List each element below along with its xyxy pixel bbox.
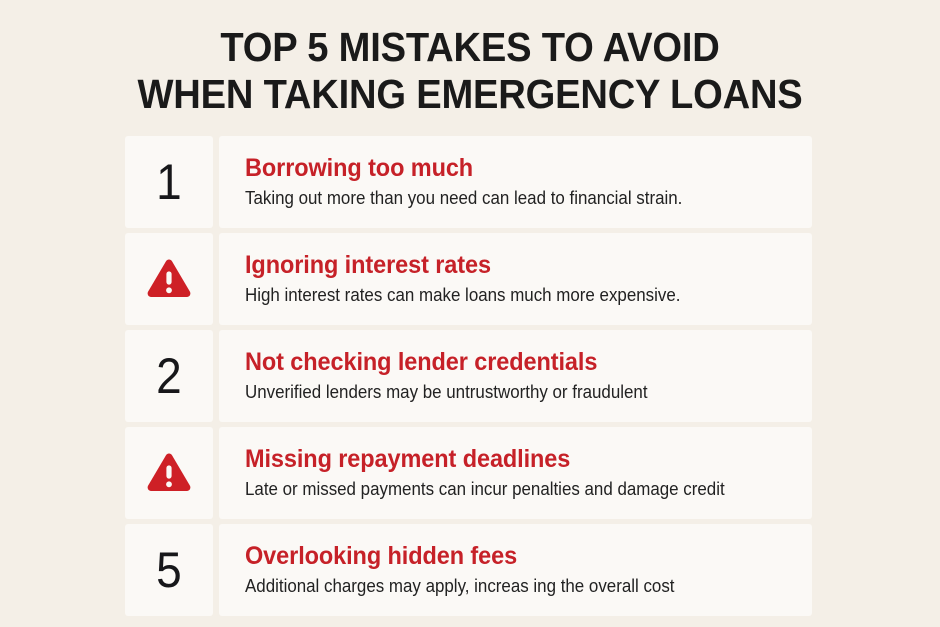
item-number: 1	[156, 157, 182, 207]
content-card: Overlooking hidden fees Additional charg…	[219, 524, 812, 616]
item-headline: Borrowing too much	[245, 154, 754, 183]
list-item: 2 Not checking lender credentials Unveri…	[125, 330, 812, 422]
item-headline: Ignoring interest rates	[245, 251, 754, 280]
item-number: 5	[156, 545, 182, 595]
infographic-page: TOP 5 MISTAKES TO AVOID WHEN TAKING EMER…	[0, 0, 940, 627]
list-item: Missing repayment deadlines Late or miss…	[125, 427, 812, 519]
content-card: Not checking lender credentials Unverifi…	[219, 330, 812, 422]
warning-triangle-icon	[146, 258, 192, 300]
page-title-line-1: TOP 5 MISTAKES TO AVOID	[33, 24, 907, 71]
list-item: Ignoring interest rates High interest ra…	[125, 233, 812, 325]
item-subtext: Additional charges may apply, increas in…	[245, 574, 754, 598]
list-item: 1 Borrowing too much Taking out more tha…	[125, 136, 812, 228]
item-subtext: Late or missed payments can incur penalt…	[245, 477, 754, 501]
content-card: Borrowing too much Taking out more than …	[219, 136, 812, 228]
item-headline: Overlooking hidden fees	[245, 542, 754, 571]
warning-triangle-icon	[146, 452, 192, 494]
marker-card: 1	[125, 136, 213, 228]
mistakes-list: 1 Borrowing too much Taking out more tha…	[125, 136, 812, 616]
content-card: Ignoring interest rates High interest ra…	[219, 233, 812, 325]
marker-card: 2	[125, 330, 213, 422]
page-title-line-2: WHEN TAKING EMERGENCY LOANS	[33, 71, 907, 118]
marker-card	[125, 233, 213, 325]
item-subtext: Unverified lenders may be untrustworthy …	[245, 380, 754, 404]
content-card: Missing repayment deadlines Late or miss…	[219, 427, 812, 519]
marker-card	[125, 427, 213, 519]
item-headline: Missing repayment deadlines	[245, 445, 754, 474]
marker-card: 5	[125, 524, 213, 616]
item-headline: Not checking lender credentials	[245, 348, 754, 377]
list-item: 5 Overlooking hidden fees Additional cha…	[125, 524, 812, 616]
page-title: TOP 5 MISTAKES TO AVOID WHEN TAKING EMER…	[0, 24, 940, 118]
item-number: 2	[156, 351, 182, 401]
item-subtext: High interest rates can make loans much …	[245, 283, 754, 307]
item-subtext: Taking out more than you need can lead t…	[245, 186, 754, 210]
